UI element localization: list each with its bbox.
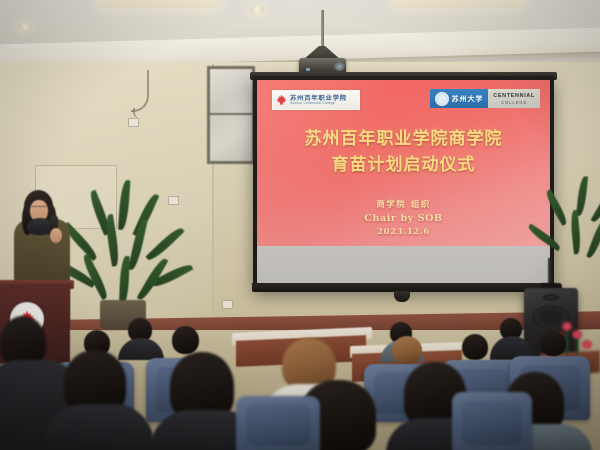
wall-outlet-icon	[128, 118, 139, 127]
auditorium-chair	[236, 396, 320, 450]
logo-left-name-en: Suzhou Centennial College	[290, 102, 347, 105]
speaker-tweeter-icon	[543, 294, 559, 301]
audience-head	[462, 334, 488, 360]
logo-suzhou-university: 苏州大学	[430, 89, 489, 108]
logo-group-right: 苏州大学 CENTENNIAL COLLEGE	[430, 89, 540, 108]
slide-subtitle-block: 商学院 组织 Chair by SOB 2023.12.6	[257, 198, 550, 237]
red-flower-icon	[572, 330, 582, 339]
slide-title: 苏州百年职业学院商学院 育苗计划启动仪式	[257, 126, 550, 178]
logo-suzhou-centennial-college: 苏州百年职业学院 Suzhou Centennial College	[272, 90, 360, 110]
red-flower-icon	[582, 340, 592, 349]
slide-subtitle-en: Chair by SOB	[257, 213, 550, 224]
auditorium-chair	[452, 392, 532, 450]
photo-scene: 苏州百年职业学院 Suzhou Centennial College 苏州大学 …	[0, 0, 600, 450]
wall-outlet-icon	[222, 300, 233, 309]
projector-led-icon	[306, 68, 310, 71]
projector-lens-icon	[334, 62, 345, 71]
logo-suda-name-cn: 苏州大学	[452, 94, 484, 104]
slide-subtitle-cn: 商学院 组织	[257, 198, 550, 210]
university-seal-icon	[435, 92, 449, 106]
potted-palm-right	[556, 176, 600, 286]
ceiling-light-icon	[392, 0, 529, 8]
flower-stem	[566, 330, 568, 356]
presenter-glasses-icon	[31, 206, 47, 212]
wall-outlet-icon	[168, 196, 179, 205]
slide-title-line-1: 苏州百年职业学院商学院	[305, 129, 503, 149]
wall-cable	[133, 108, 141, 118]
maple-leaf-icon	[276, 95, 287, 106]
window	[207, 66, 255, 164]
logo-centennial-line2: COLLEGE	[501, 100, 527, 105]
logo-left-name-cn: 苏州百年职业学院	[290, 95, 347, 101]
audience-shoulders	[44, 404, 154, 450]
red-flower-icon	[562, 322, 572, 331]
downlight-icon	[18, 22, 32, 31]
audience-head	[540, 330, 566, 356]
slide-title-line-2: 育苗计划启动仪式	[257, 152, 550, 178]
ceiling-light-icon	[96, 0, 225, 8]
projection-screen-surface: 苏州百年职业学院 Suzhou Centennial College 苏州大学 …	[257, 80, 550, 283]
flower-stem	[576, 336, 578, 358]
presenter-hand	[50, 228, 62, 243]
downlight-icon	[250, 5, 264, 14]
logo-centennial-line1: CENTENNIAL	[493, 93, 535, 99]
audience-head	[392, 336, 422, 364]
projector-mount-pole	[321, 10, 324, 48]
presentation-slide: 苏州百年职业学院 Suzhou Centennial College 苏州大学 …	[257, 80, 550, 246]
audience-head	[172, 326, 199, 354]
logo-centennial-college: CENTENNIAL COLLEGE	[488, 89, 540, 108]
slide-date: 2023.12.6	[257, 227, 550, 237]
